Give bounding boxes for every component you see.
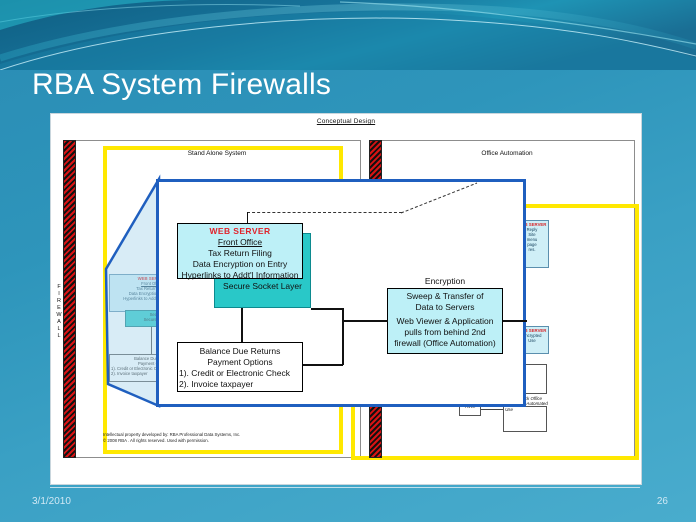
slide: RBA System Firewalls Conceptual Design S…	[0, 0, 696, 522]
zoom-popup-window: Security Layer Secure Socket Layer WEB S…	[156, 179, 526, 407]
web-server-line-3: Hyperlinks to Addt'l Information	[178, 270, 302, 281]
web-server-header: WEB SERVER	[178, 226, 302, 237]
web-server-line-1: Tax Return Filing	[178, 248, 302, 259]
encryption-line-1: Sweep & Transfer of	[388, 291, 502, 302]
dashed-leader-diagonal	[399, 182, 479, 216]
encryption-title: Encryption	[387, 276, 503, 286]
connector-to-encryption	[342, 320, 388, 322]
balance-due-line-1: Balance Due Returns	[178, 346, 302, 357]
web-server-line-2: Data Encryption on Entry	[178, 259, 302, 270]
firewall-letter: A	[54, 319, 64, 326]
firewall-letter: R	[54, 298, 64, 305]
footer-page-number: 26	[657, 496, 668, 507]
encryption-line-4: pulls from behind 2nd	[388, 327, 502, 338]
connector-balance-right	[303, 364, 343, 366]
encryption-box: Sweep & Transfer of Data to Servers Web …	[387, 288, 503, 354]
encryption-line-3: Web Viewer & Application	[388, 316, 502, 327]
conceptual-design-label: Conceptual Design	[51, 118, 641, 125]
encryption-line-5: firewall (Office Automation)	[388, 338, 502, 349]
encryption-line-2: Data to Servers	[388, 302, 502, 313]
dashed-leader-horizontal	[247, 212, 402, 213]
conceptual-diagram: Conceptual Design Stand Alone System Off…	[51, 114, 641, 484]
firewall-vertical-label: F I R E W A L L	[54, 284, 64, 340]
firewall-letter: L	[54, 326, 64, 333]
firewall-letter: I	[54, 291, 64, 298]
security-layer-line2: Secure Socket Layer	[215, 281, 310, 292]
connector-encryption-out	[503, 320, 527, 322]
copyright-block: Intellectual property developed by: RBA …	[103, 432, 353, 444]
footer-rule	[50, 487, 640, 488]
firewall-letter: L	[54, 333, 64, 340]
firewall-letter: F	[54, 284, 64, 291]
connector-web-to-balance	[241, 308, 243, 342]
web-server-box: WEB SERVER Front Office Tax Return Filin…	[177, 223, 303, 279]
bg-connector-2	[151, 327, 152, 354]
bg-connector-3	[481, 409, 503, 410]
page-title: RBA System Firewalls	[32, 68, 331, 102]
panel-office-automation-label: Office Automation	[381, 150, 633, 157]
footer-date: 3/1/2010	[32, 496, 71, 507]
connector-vertical-mid	[342, 308, 344, 365]
balance-due-line-2: Payment Options	[178, 357, 302, 368]
firewall-bar-left	[63, 140, 76, 458]
decorative-header-band	[0, 0, 696, 70]
connector-web-right	[311, 308, 343, 310]
diagram-canvas: Conceptual Design Stand Alone System Off…	[50, 113, 642, 485]
copyright-line-2: © 2008 RBA . All rights reserved. Used w…	[103, 438, 353, 444]
firewall-letter: E	[54, 305, 64, 312]
web-server-subtitle: Front Office	[178, 237, 302, 248]
firewall-letter: W	[54, 312, 64, 319]
balance-due-line-4: 2). Invoice taxpayer	[178, 379, 302, 390]
balance-due-returns-box: Balance Due Returns Payment Options 1). …	[177, 342, 303, 392]
balance-due-line-3: 1). Credit or Electronic Check	[178, 368, 302, 379]
